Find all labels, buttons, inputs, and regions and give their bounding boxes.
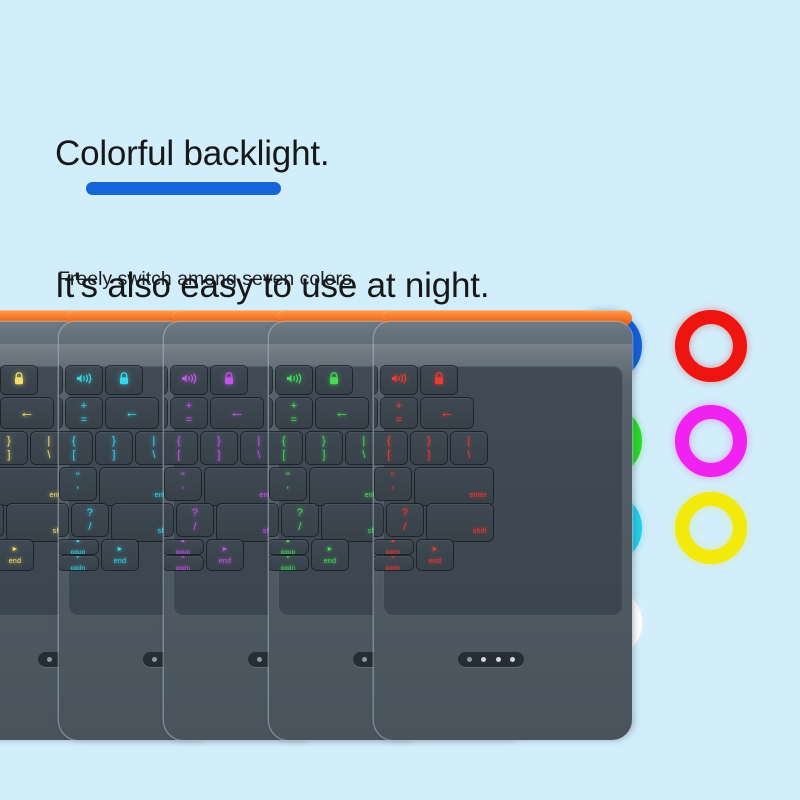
key-end-lower: end xyxy=(429,557,442,566)
key-plus-lower: = xyxy=(186,415,193,426)
key-slash[interactable]: ?/ xyxy=(0,504,3,536)
color-ring-magenta[interactable] xyxy=(675,405,747,477)
key-minus[interactable]: −_ xyxy=(269,398,272,428)
key-quote[interactable]: "' xyxy=(375,468,411,500)
key-backslash-upper: | xyxy=(152,436,155,447)
key-quote-upper: " xyxy=(286,472,290,483)
key-end-lower: end xyxy=(9,557,22,566)
key-bracket-left-lower: [ xyxy=(282,450,285,461)
key-pgdn-legend: ▼pgdn xyxy=(386,556,401,570)
key-bracket-left-upper: { xyxy=(387,436,391,447)
key-slash-lower: / xyxy=(193,522,196,533)
key-pgdn-legend: ▼pgdn xyxy=(176,556,191,570)
key-shift-left[interactable] xyxy=(59,504,68,536)
key-backspace[interactable]: ← xyxy=(316,398,368,428)
key-bracket-right[interactable]: }] xyxy=(306,432,342,464)
key-mute[interactable] xyxy=(164,366,167,394)
key-bracket-right-legend: }] xyxy=(427,436,431,461)
indicator-dot xyxy=(496,657,501,662)
key-bracket-right-lower: ] xyxy=(217,450,220,461)
key-volume[interactable] xyxy=(171,366,207,394)
key-bracket-right[interactable]: }] xyxy=(0,432,27,464)
product-marketing-image: Colorful backlight. It's also easy to us… xyxy=(0,0,800,800)
volume-icon xyxy=(76,373,93,387)
key-bracket-right-legend: }] xyxy=(112,436,116,461)
key-quote-upper: " xyxy=(76,472,80,483)
indicator-dot xyxy=(257,657,262,662)
key-pgdn-legend: ▼pgdn xyxy=(281,556,296,570)
key-backslash-upper: | xyxy=(47,436,50,447)
key-plus[interactable]: += xyxy=(276,398,312,428)
key-slash-legend: ?/ xyxy=(87,508,93,533)
key-bracket-left-lower: [ xyxy=(72,450,75,461)
key-bracket-left-lower: [ xyxy=(177,450,180,461)
key-bracket-left[interactable]: {[ xyxy=(269,432,302,464)
key-bracket-left[interactable]: {[ xyxy=(59,432,92,464)
key-shift-left[interactable] xyxy=(374,504,383,536)
keyboard-indicator-leds xyxy=(458,652,524,667)
key-pgdn[interactable]: ▼pgdn xyxy=(59,556,98,570)
key-enter[interactable]: enter xyxy=(415,468,493,505)
key-pgdn-upper: ▼ xyxy=(180,556,186,562)
indicator-dot xyxy=(510,657,515,662)
key-quote-lower: ' xyxy=(392,486,394,497)
key-slash[interactable]: ?/ xyxy=(387,504,423,536)
key-bracket-right-lower: ] xyxy=(427,450,430,461)
key-pgdn-lower: pgdn xyxy=(71,565,86,571)
key-quote-lower: ' xyxy=(287,486,289,497)
lock-icon xyxy=(14,372,24,388)
key-plus-legend: += xyxy=(81,401,88,426)
key-bracket-right[interactable]: }] xyxy=(201,432,237,464)
key-quote-upper: " xyxy=(391,472,395,483)
key-plus-lower: = xyxy=(291,415,298,426)
key-mute[interactable] xyxy=(269,366,272,394)
key-bracket-left[interactable]: {[ xyxy=(374,432,407,464)
key-plus-lower: = xyxy=(81,415,88,426)
key-mute[interactable] xyxy=(59,366,62,394)
color-ring-yellow[interactable] xyxy=(675,492,747,564)
key-backslash[interactable]: |\ xyxy=(451,432,487,464)
key-end-lower: end xyxy=(114,557,127,566)
key-slash-lower: / xyxy=(403,522,406,533)
key-end[interactable]: ►end xyxy=(0,540,33,570)
key-shift-left[interactable] xyxy=(269,504,278,536)
key-backslash-legend: |\ xyxy=(257,436,260,461)
key-enter-label: enter xyxy=(470,491,487,500)
key-bracket-right-upper: } xyxy=(322,436,326,447)
key-pgup-upper: ▲ xyxy=(180,540,186,546)
key-slash[interactable]: ?/ xyxy=(72,504,108,536)
subtitle-line-1: Freely switch among seven colors xyxy=(58,265,352,293)
key-bracket-right-legend: }] xyxy=(322,436,326,461)
key-pgup-lower: pgup xyxy=(176,549,191,555)
key-pgup-legend: ▲pgup xyxy=(71,540,86,554)
key-pgup-upper: ▲ xyxy=(75,540,81,546)
key-volume[interactable] xyxy=(276,366,312,394)
indicator-dot xyxy=(467,657,472,662)
key-end-upper: ► xyxy=(326,545,333,554)
key-lock[interactable] xyxy=(106,366,142,394)
key-pgdn-lower: pgdn xyxy=(386,565,401,571)
accent-divider-bar xyxy=(86,182,281,195)
key-plus-upper: + xyxy=(291,401,298,412)
key-slash[interactable]: ?/ xyxy=(282,504,318,536)
key-bracket-left-legend: {[ xyxy=(72,436,76,461)
key-shift-left[interactable] xyxy=(164,504,173,536)
key-bracket-left-upper: { xyxy=(177,436,181,447)
volume-icon xyxy=(286,373,303,387)
key-end-legend: ►end xyxy=(114,545,127,566)
key-end[interactable]: ►end xyxy=(207,540,243,570)
key-plus-lower: = xyxy=(396,415,403,426)
key-bracket-right-legend: }] xyxy=(217,436,221,461)
key-pgdn-upper: ▼ xyxy=(390,556,396,562)
key-plus[interactable]: += xyxy=(171,398,207,428)
arrow-left-icon: ← xyxy=(19,407,34,419)
key-bracket-right-upper: } xyxy=(217,436,221,447)
key-end-upper: ► xyxy=(431,545,438,554)
key-shift-right-label: shift xyxy=(473,527,487,536)
key-pgdn-legend: ▼pgdn xyxy=(71,556,86,570)
key-end-legend: ►end xyxy=(429,545,442,566)
key-plus[interactable]: += xyxy=(66,398,102,428)
key-quote-legend: "' xyxy=(76,472,80,497)
key-slash-legend: ?/ xyxy=(402,508,408,533)
key-slash-upper: ? xyxy=(402,508,408,519)
key-bracket-right-lower: ] xyxy=(7,450,10,461)
key-slash-lower: / xyxy=(88,522,91,533)
key-backslash-legend: |\ xyxy=(362,436,365,461)
key-volume[interactable] xyxy=(66,366,102,394)
keyboard-body: −_+=←~`{[}]|\:;"'enter?/shift◄home▲pgup▼… xyxy=(374,322,632,740)
key-pgup-lower: pgup xyxy=(71,549,86,555)
key-bracket-left-legend: {[ xyxy=(387,436,391,461)
key-pgup-legend: ▲pgup xyxy=(176,540,191,554)
key-bracket-right-upper: } xyxy=(427,436,431,447)
keyboard-lineup: −_+=←~`{[}]|\:;"'enter?/shift◄home▲pgup▼… xyxy=(0,300,560,760)
key-backslash-lower: \ xyxy=(152,450,155,461)
lock-icon xyxy=(329,372,339,388)
key-bracket-right-legend: }] xyxy=(7,436,11,461)
key-backslash-upper: | xyxy=(362,436,365,447)
key-bracket-right-upper: } xyxy=(7,436,11,447)
key-quote[interactable]: "' xyxy=(270,468,306,500)
key-backspace[interactable]: ← xyxy=(211,398,263,428)
key-slash-upper: ? xyxy=(87,508,93,519)
key-backslash-upper: | xyxy=(257,436,260,447)
lock-icon xyxy=(434,372,444,388)
key-pgup[interactable]: ▲pgup xyxy=(269,540,308,554)
key-bracket-right-lower: ] xyxy=(322,450,325,461)
key-bracket-right[interactable]: }] xyxy=(96,432,132,464)
key-shift-right[interactable]: shift xyxy=(427,504,493,541)
key-bracket-left[interactable]: {[ xyxy=(164,432,197,464)
key-quote-legend: "' xyxy=(391,472,395,497)
volume-icon xyxy=(181,373,198,387)
arrow-left-icon: ← xyxy=(334,407,349,419)
key-bracket-left-legend: {[ xyxy=(177,436,181,461)
key-pgdn-upper: ▼ xyxy=(285,556,291,562)
key-slash[interactable]: ?/ xyxy=(177,504,213,536)
key-backslash-legend: |\ xyxy=(47,436,50,461)
key-bracket-left-lower: [ xyxy=(387,450,390,461)
key-pgup-upper: ▲ xyxy=(390,540,396,546)
key-plus-upper: + xyxy=(396,401,403,412)
key-backslash-legend: |\ xyxy=(467,436,470,461)
key-end-upper: ► xyxy=(221,545,228,554)
key-plus-upper: + xyxy=(81,401,88,412)
key-slash-legend: ?/ xyxy=(192,508,198,533)
key-lock[interactable] xyxy=(1,366,37,394)
key-minus[interactable]: −_ xyxy=(59,398,62,428)
key-backslash-lower: \ xyxy=(362,450,365,461)
key-backspace[interactable]: ← xyxy=(421,398,473,428)
key-backslash-lower: \ xyxy=(467,450,470,461)
key-end[interactable]: ►end xyxy=(102,540,138,570)
arrow-left-icon: ← xyxy=(124,407,139,419)
key-end[interactable]: ►end xyxy=(312,540,348,570)
indicator-dot xyxy=(481,657,486,662)
key-lock[interactable] xyxy=(211,366,247,394)
key-end-upper: ► xyxy=(11,545,18,554)
key-backspace[interactable]: ← xyxy=(1,398,53,428)
key-plus-legend: += xyxy=(291,401,298,426)
key-slash-lower: / xyxy=(298,522,301,533)
key-pgup-legend: ▲pgup xyxy=(281,540,296,554)
key-bracket-left-upper: { xyxy=(72,436,76,447)
key-bracket-left-upper: { xyxy=(282,436,286,447)
key-backspace[interactable]: ← xyxy=(106,398,158,428)
keyboard-keys: −_+=←~`{[}]|\:;"'enter?/shift◄home▲pgup▼… xyxy=(383,366,623,616)
headline-line-1: Colorful backlight. xyxy=(55,132,489,176)
key-bracket-right[interactable]: }] xyxy=(411,432,447,464)
key-pgup-lower: pgup xyxy=(281,549,296,555)
key-end[interactable]: ►end xyxy=(417,540,453,570)
key-end-legend: ►end xyxy=(324,545,337,566)
key-pgdn[interactable]: ▼pgdn xyxy=(269,556,308,570)
key-pgdn-lower: pgdn xyxy=(281,565,296,571)
key-pgdn-lower: pgdn xyxy=(176,565,191,571)
key-plus[interactable]: += xyxy=(381,398,417,428)
indicator-dot xyxy=(362,657,367,662)
lock-icon xyxy=(119,372,129,388)
key-slash-upper: ? xyxy=(297,508,303,519)
key-pgdn-upper: ▼ xyxy=(75,556,81,562)
lock-icon xyxy=(224,372,234,388)
key-quote-upper: " xyxy=(181,472,185,483)
volume-icon xyxy=(391,373,408,387)
key-plus-upper: + xyxy=(186,401,193,412)
key-pgup[interactable]: ▲pgup xyxy=(59,540,98,554)
key-backslash-lower: \ xyxy=(257,450,260,461)
key-bracket-right-upper: } xyxy=(112,436,116,447)
key-quote-legend: "' xyxy=(286,472,290,497)
key-backslash-legend: |\ xyxy=(152,436,155,461)
key-pgup[interactable]: ▲pgup xyxy=(164,540,203,554)
key-end-lower: end xyxy=(324,557,337,566)
key-quote-lower: ' xyxy=(182,486,184,497)
key-pgup[interactable]: ▲pgup xyxy=(374,540,413,554)
key-minus[interactable]: −_ xyxy=(374,398,377,428)
arrow-left-icon: ← xyxy=(439,407,454,419)
key-lock[interactable] xyxy=(421,366,457,394)
key-bracket-right-lower: ] xyxy=(112,450,115,461)
arrow-left-icon: ← xyxy=(229,407,244,419)
key-quote[interactable]: "' xyxy=(165,468,201,500)
key-plus-legend: += xyxy=(396,401,403,426)
key-pgup-legend: ▲pgup xyxy=(386,540,401,554)
key-pgup-lower: pgup xyxy=(386,549,401,555)
key-quote-legend: "' xyxy=(181,472,185,497)
key-backslash-upper: | xyxy=(467,436,470,447)
key-slash-legend: ?/ xyxy=(297,508,303,533)
key-bracket-left-legend: {[ xyxy=(282,436,286,461)
key-lock[interactable] xyxy=(316,366,352,394)
key-volume[interactable] xyxy=(381,366,417,394)
key-pgdn[interactable]: ▼pgdn xyxy=(374,556,413,570)
key-end-lower: end xyxy=(219,557,232,566)
key-pgdn[interactable]: ▼pgdn xyxy=(164,556,203,570)
keyboard-red: −_+=←~`{[}]|\:;"'enter?/shift◄home▲pgup▼… xyxy=(374,300,636,740)
key-end-legend: ►end xyxy=(9,545,22,566)
key-slash-upper: ? xyxy=(192,508,198,519)
key-mute[interactable] xyxy=(374,366,377,394)
key-minus[interactable]: −_ xyxy=(164,398,167,428)
key-quote[interactable]: "' xyxy=(60,468,96,500)
key-backslash-lower: \ xyxy=(47,450,50,461)
key-pgup-upper: ▲ xyxy=(285,540,291,546)
color-ring-red[interactable] xyxy=(675,310,747,382)
indicator-dot xyxy=(47,657,52,662)
key-end-legend: ►end xyxy=(219,545,232,566)
indicator-dot xyxy=(152,657,157,662)
key-end-upper: ► xyxy=(116,545,123,554)
key-quote-lower: ' xyxy=(77,486,79,497)
key-plus-legend: += xyxy=(186,401,193,426)
